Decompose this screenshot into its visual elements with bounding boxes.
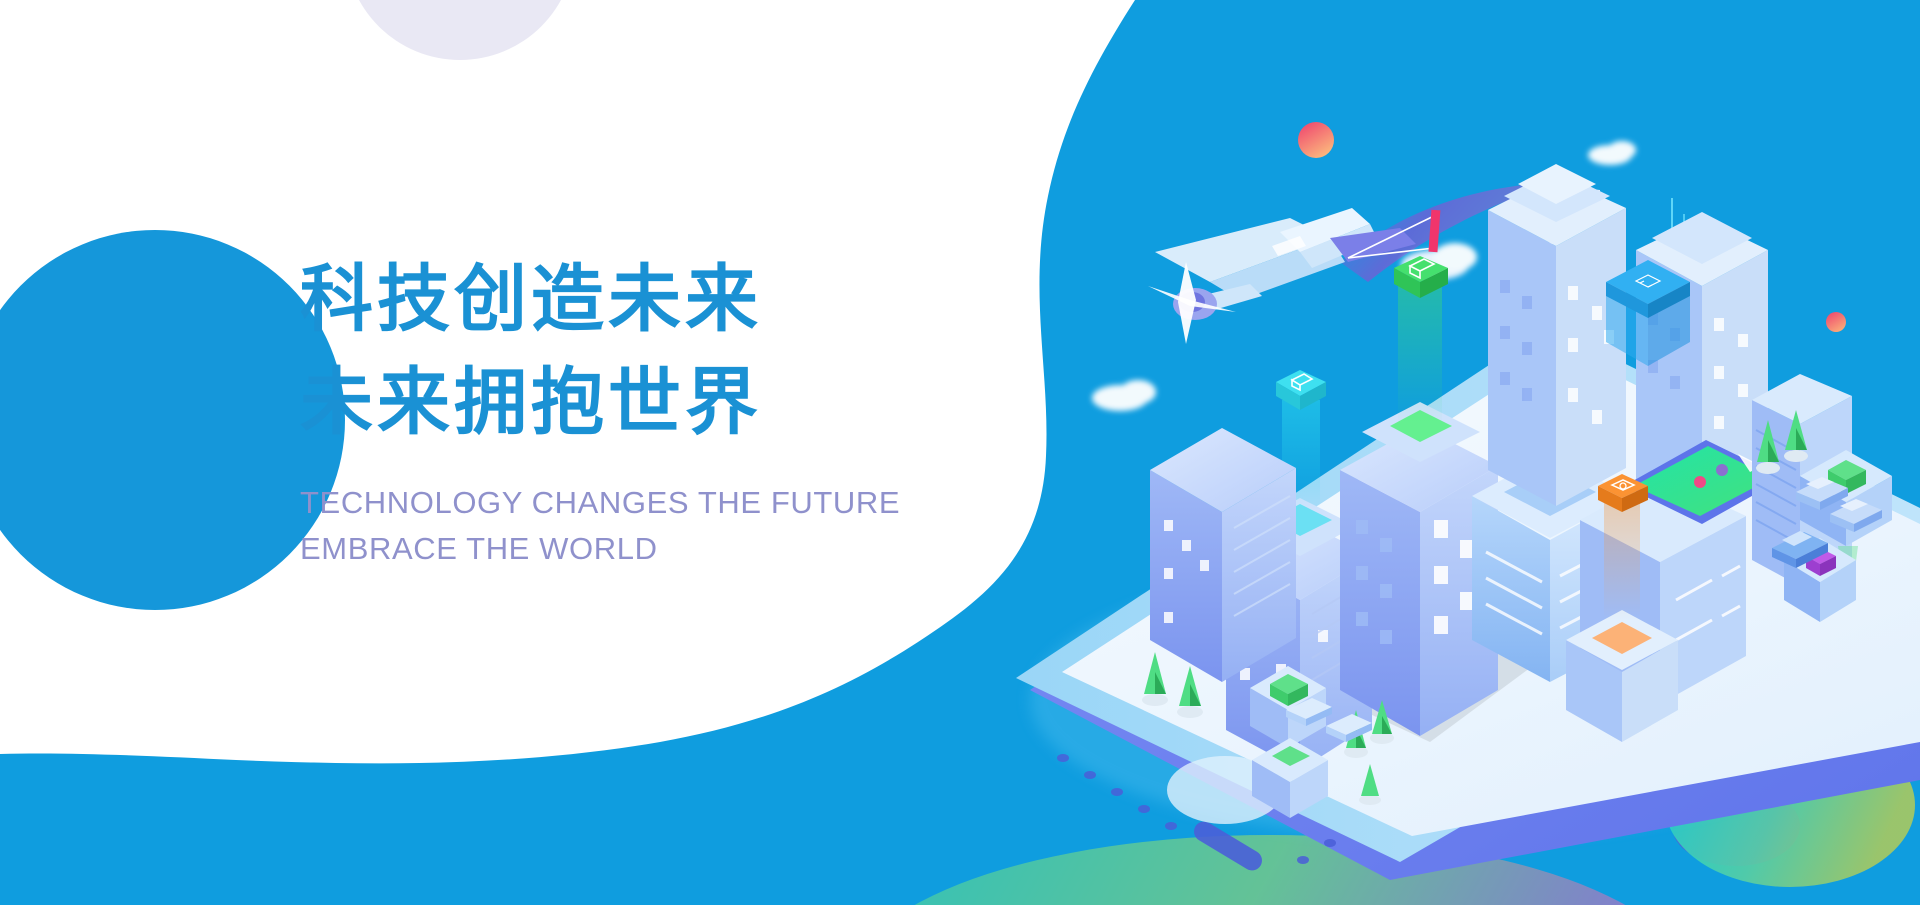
subtitle-group: TECHNOLOGY CHANGES THE FUTURE EMBRACE TH… xyxy=(300,480,940,572)
banner-root: 科技创造未来 未来拥抱世界 TECHNOLOGY CHANGES THE FUT… xyxy=(0,0,1920,905)
subtitle-line-1: TECHNOLOGY CHANGES THE FUTURE xyxy=(300,480,940,526)
building-glass-left xyxy=(1150,428,1296,682)
headline-line-1: 科技创造未来 xyxy=(300,248,940,351)
headline-line-2: 未来拥抱世界 xyxy=(300,351,940,454)
subtitle-line-2: EMBRACE THE WORLD xyxy=(300,526,940,572)
speaker-holes-right xyxy=(1297,839,1336,864)
charging-port xyxy=(1190,818,1265,874)
airplane-icon xyxy=(1148,208,1416,344)
smart-city-illustration xyxy=(0,0,1920,905)
text-block: 科技创造未来 未来拥抱世界 TECHNOLOGY CHANGES THE FUT… xyxy=(300,248,940,572)
building-tall-right xyxy=(1488,164,1626,506)
